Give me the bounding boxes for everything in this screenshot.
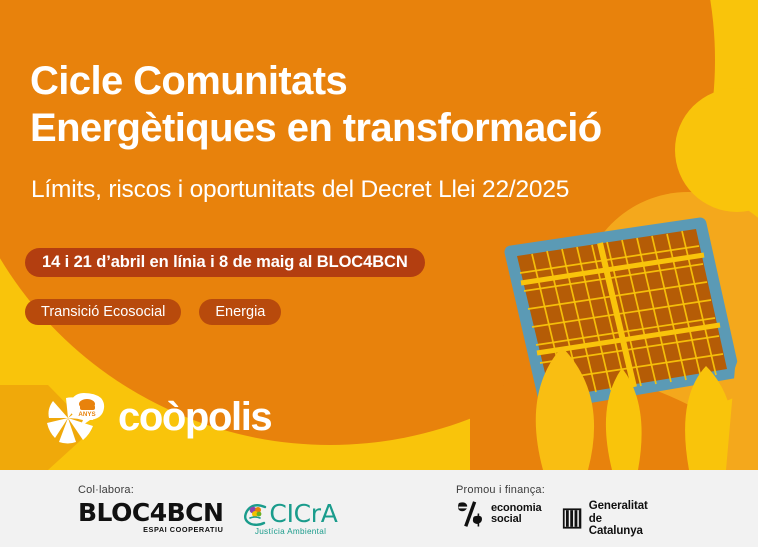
tag-transicio-ecosocial[interactable]: Transició Ecosocial [25,299,181,325]
poster: Cicle Comunitats Energètiques en transfo… [0,0,758,547]
generalitat-line2: de Catalunya [589,513,651,538]
bloc4bcn-wordmark: BLOC4BCN [78,500,223,526]
funding-label: Promou i finança: [456,484,545,496]
economia-social-percent-icon [456,500,484,528]
page-title: Cicle Comunitats Energètiques en transfo… [30,58,756,152]
poster-text-layer: Cicle Comunitats Energètiques en transfo… [0,0,758,470]
coopolis-anys-text: ANYS [78,411,95,418]
coopolis-pinwheel-icon: ANYS [40,383,112,445]
tag-list: Transició Ecosocial Energia [25,299,281,325]
poster-footer: Col·labora: BLOC4BCN ESPAI COOPERATIU [0,470,758,547]
collaborate-label: Col·labora: [78,484,134,496]
cicra-flower-icon [243,502,268,527]
cicra-wordmark: CICrA [269,501,337,527]
coopolis-logo[interactable]: ANYS coòpolis [40,383,271,445]
tag-energia[interactable]: Energia [199,299,281,325]
poster-artwork: Cicle Comunitats Energètiques en transfo… [0,0,758,470]
generalitat-line1: Generalitat [589,500,651,513]
generalitat-logo[interactable]: Generalitat de Catalunya [562,500,651,538]
economia-social-line2: social [491,514,542,526]
coopolis-wordmark: coòpolis [118,397,271,437]
funder-logos: economia social [456,500,651,538]
generalitat-shield-icon [562,506,582,531]
cicra-tagline: Justícia Ambiental [243,527,337,537]
page-subtitle: Límits, riscos i oportunitats del Decret… [31,175,731,205]
cicra-logo[interactable]: CICrA Justícia Ambiental [243,500,337,537]
economia-social-logo[interactable]: economia social [456,500,542,528]
date-badge: 14 i 21 d’abril en línia i 8 de maig al … [25,248,425,277]
collaborator-logos: BLOC4BCN ESPAI COOPERATIU CICrA [78,500,338,537]
bloc4bcn-logo[interactable]: BLOC4BCN ESPAI COOPERATIU [78,500,223,534]
